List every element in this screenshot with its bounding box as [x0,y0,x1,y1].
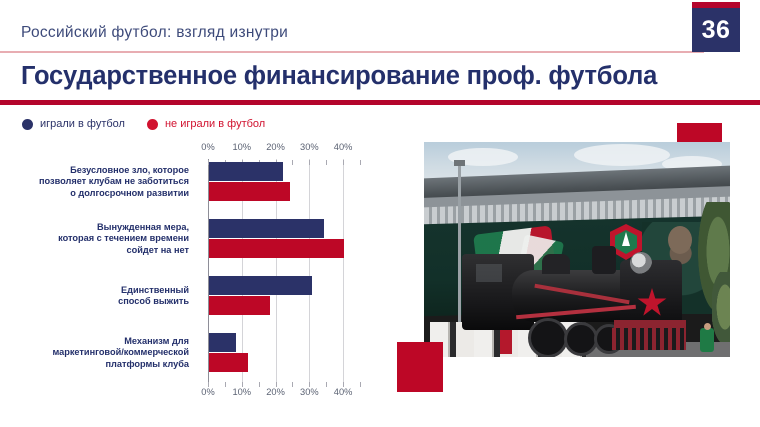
chart-bar [209,353,248,372]
chart-axis-tick-mark [259,382,260,387]
slide: Российский футбол: взгляд изнутри 36 Гос… [0,0,760,427]
chart-axis-tick-mark [225,382,226,387]
chart-axis-tick-label: 0% [201,142,214,152]
chart-category-label: Безусловное зло, котороепозволяет клубам… [0,165,189,199]
page-title: Государственное финансирование проф. фут… [21,62,657,91]
slide-number-badge: 36 [692,8,740,52]
photo-locomotive-cowcatcher [612,328,686,350]
chart-bar [209,296,270,315]
chart-gridline [343,159,344,387]
chart-bar [209,219,324,238]
chart-bar [209,239,344,258]
legend-label-played: играли в футбол [40,118,125,130]
decorative-red-square-bottom-left [397,342,443,392]
legend-item-not-played: не играли в футбол [147,118,265,130]
chart-axis-tick-label: 0% [201,387,214,397]
chart-axis-tick-mark [242,382,243,387]
photo-person [700,328,714,352]
chart-axis-tick-label: 10% [232,387,251,397]
legend-item-played: играли в футбол [22,118,125,130]
chart-plot-area: 0%10%20%30%40% 0%10%20%30%40% [208,143,360,403]
chart-category-label: Вынужденная мера,которая с течением врем… [0,222,189,256]
chart-bar [209,276,312,295]
photo-person-head [704,323,711,330]
chart-axis-tick-mark [360,382,361,387]
chart-axis-tick-label: 40% [334,142,353,152]
chart-axis-tick-mark [326,160,327,165]
bar-chart: Безусловное зло, котороепозволяет клубам… [0,143,380,403]
legend-circle-marker-icon [147,119,158,130]
chart-bar [209,333,236,352]
chart-axis-tick-label: 20% [266,387,285,397]
chart-axis-tick-mark [360,160,361,165]
chart-legend: играли в футбол не играли в футбол [22,118,265,130]
photo-club-crest-letter [622,232,630,246]
chart-category-labels: Безусловное зло, котороепозволяет клубам… [0,143,195,403]
photo-tree [712,272,730,342]
chart-axis-tick-mark [292,160,293,165]
header-divider-thin [0,51,704,53]
photo-mural-player-head [668,226,692,254]
photo-flagpole [458,160,461,336]
chart-bar [209,182,290,201]
chart-gridline [309,159,310,387]
chart-axis-tick-mark [309,382,310,387]
chart-axis-tick-mark [343,160,344,165]
photo-locomotive-smokestack [592,246,616,274]
steam-locomotive-at-stadium-photo [424,142,730,357]
chart-axis-tick-label: 30% [300,142,319,152]
chart-axis-tick-label: 20% [266,142,285,152]
legend-label-not-played: не играли в футбол [165,118,265,130]
photo-locomotive-cab-window [476,264,502,282]
title-divider-thick [0,100,760,105]
chart-axis-tick-mark [292,382,293,387]
slide-subtitle: Российский футбол: взгляд изнутри [21,24,288,42]
photo-locomotive-wheel [528,318,568,357]
photo-locomotive-headlamp [630,252,652,274]
chart-axis-tick-mark [208,382,209,387]
chart-axis-tick-mark [343,382,344,387]
chart-axis-tick-mark [309,160,310,165]
photo-flagpole-top [454,160,465,166]
photo-locomotive-wheel [564,322,598,356]
chart-category-label: Механизм длямаркетинговой/коммерческойпл… [0,336,189,370]
chart-axis-tick-label: 40% [334,387,353,397]
chart-axis-tick-mark [276,382,277,387]
photo-advert-banner-red [500,328,512,354]
chart-axis-tick-label: 30% [300,387,319,397]
chart-bar [209,162,283,181]
chart-axis-tick-mark [326,382,327,387]
photo-cloud [574,144,670,166]
slide-number-text: 36 [692,8,740,52]
photo-locomotive-steam-dome [542,254,570,274]
legend-circle-marker-icon [22,119,33,130]
chart-axis-ticks-bottom: 0%10%20%30%40% [208,387,360,401]
chart-axis-tick-label: 10% [232,142,251,152]
chart-category-label: Единственныйспособ выжить [0,285,189,308]
chart-axis-ticks-top: 0%10%20%30%40% [208,142,360,156]
